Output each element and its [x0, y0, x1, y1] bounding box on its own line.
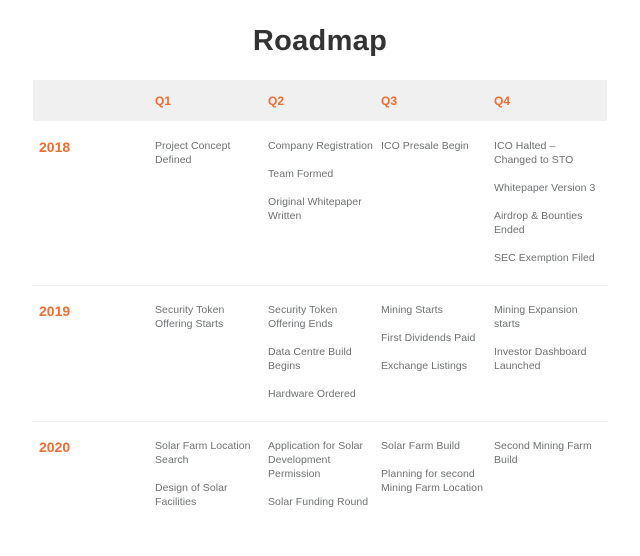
- row-cell-q4: Second Mining Farm Build: [494, 439, 607, 509]
- milestone-item: ICO Presale Begin: [381, 139, 488, 153]
- row-cell-q3: Solar Farm BuildPlanning for second Mini…: [381, 439, 494, 509]
- roadmap-table: Q1 Q2 Q3 Q4 2018 Project Concept Defined…: [33, 80, 607, 533]
- roadmap-header-row: Q1 Q2 Q3 Q4: [33, 80, 607, 121]
- row-cell-q2: Application for Solar Development Permis…: [268, 439, 381, 509]
- milestone-list: Application for Solar Development Permis…: [268, 439, 375, 509]
- row-cell-q4: ICO Halted – Changed to STOWhitepaper Ve…: [494, 139, 607, 265]
- milestone-item: Second Mining Farm Build: [494, 439, 601, 467]
- milestone-item: Project Concept Defined: [155, 139, 262, 167]
- header-cell-q1: Q1: [155, 92, 268, 110]
- row-year-cell: 2019: [33, 303, 155, 401]
- milestone-list: ICO Halted – Changed to STOWhitepaper Ve…: [494, 139, 601, 265]
- row-cell-q3: Mining StartsFirst Dividends PaidExchang…: [381, 303, 494, 401]
- milestone-list: Solar Farm Location SearchDesign of Sola…: [155, 439, 262, 509]
- row-year-cell: 2018: [33, 139, 155, 265]
- row-cell-q1: Security Token Offering Starts: [155, 303, 268, 401]
- year-label: 2019: [39, 302, 70, 319]
- milestone-item: Solar Farm Build: [381, 439, 488, 453]
- row-cell-q2: Security Token Offering EndsData Centre …: [268, 303, 381, 401]
- milestone-list: Solar Farm BuildPlanning for second Mini…: [381, 439, 488, 495]
- quarter-header-label: Q3: [381, 94, 397, 108]
- milestone-item: Original Whitepaper Written: [268, 195, 375, 223]
- milestone-list: Mining Expansion startsInvestor Dashboar…: [494, 303, 601, 373]
- row-cell-q1: Project Concept Defined: [155, 139, 268, 265]
- milestone-item: Mining Starts: [381, 303, 488, 317]
- milestone-list: Company RegistrationTeam FormedOriginal …: [268, 139, 375, 223]
- year-label: 2018: [39, 138, 70, 155]
- milestone-item: Security Token Offering Starts: [155, 303, 262, 331]
- header-cell-q2: Q2: [268, 92, 381, 110]
- table-row: 2020 Solar Farm Location SearchDesign of…: [33, 422, 607, 533]
- header-cell-q4: Q4: [494, 92, 607, 110]
- table-row: 2018 Project Concept Defined Company Reg…: [33, 121, 607, 286]
- milestone-item: ICO Halted – Changed to STO: [494, 139, 601, 167]
- row-cell-q3: ICO Presale Begin: [381, 139, 494, 265]
- row-cell-q2: Company RegistrationTeam FormedOriginal …: [268, 139, 381, 265]
- milestone-list: Security Token Offering Starts: [155, 303, 262, 331]
- quarter-header-label: Q4: [494, 94, 510, 108]
- year-label: 2020: [39, 438, 70, 455]
- milestone-item: SEC Exemption Filed: [494, 251, 601, 265]
- milestone-list: Mining StartsFirst Dividends PaidExchang…: [381, 303, 488, 373]
- milestone-list: Security Token Offering EndsData Centre …: [268, 303, 375, 401]
- header-cell-q3: Q3: [381, 92, 494, 110]
- milestone-item: Data Centre Build Begins: [268, 345, 375, 373]
- milestone-item: Security Token Offering Ends: [268, 303, 375, 331]
- milestone-item: Hardware Ordered: [268, 387, 375, 401]
- milestone-item: Design of Solar Facilities: [155, 481, 262, 509]
- milestone-item: Whitepaper Version 3: [494, 181, 601, 195]
- row-cell-q1: Solar Farm Location SearchDesign of Sola…: [155, 439, 268, 509]
- milestone-list: Project Concept Defined: [155, 139, 262, 167]
- roadmap-page: Roadmap Q1 Q2 Q3 Q4 2018 Project Concept…: [0, 0, 640, 556]
- quarter-header-label: Q2: [268, 94, 284, 108]
- milestone-item: Application for Solar Development Permis…: [268, 439, 375, 481]
- milestone-list: ICO Presale Begin: [381, 139, 488, 153]
- milestone-item: Mining Expansion starts: [494, 303, 601, 331]
- milestone-item: Solar Funding Round: [268, 495, 375, 509]
- table-row: 2019 Security Token Offering Starts Secu…: [33, 286, 607, 422]
- milestone-item: Airdrop & Bounties Ended: [494, 209, 601, 237]
- row-year-cell: 2020: [33, 439, 155, 509]
- milestone-list: Second Mining Farm Build: [494, 439, 601, 467]
- milestone-item: Team Formed: [268, 167, 375, 181]
- milestone-item: Exchange Listings: [381, 359, 488, 373]
- row-cell-q4: Mining Expansion startsInvestor Dashboar…: [494, 303, 607, 401]
- quarter-header-label: Q1: [155, 94, 171, 108]
- milestone-item: Planning for second Mining Farm Location: [381, 467, 488, 495]
- milestone-item: Solar Farm Location Search: [155, 439, 262, 467]
- milestone-item: First Dividends Paid: [381, 331, 488, 345]
- page-title: Roadmap: [0, 0, 640, 61]
- milestone-item: Investor Dashboard Launched: [494, 345, 601, 373]
- milestone-item: Company Registration: [268, 139, 375, 153]
